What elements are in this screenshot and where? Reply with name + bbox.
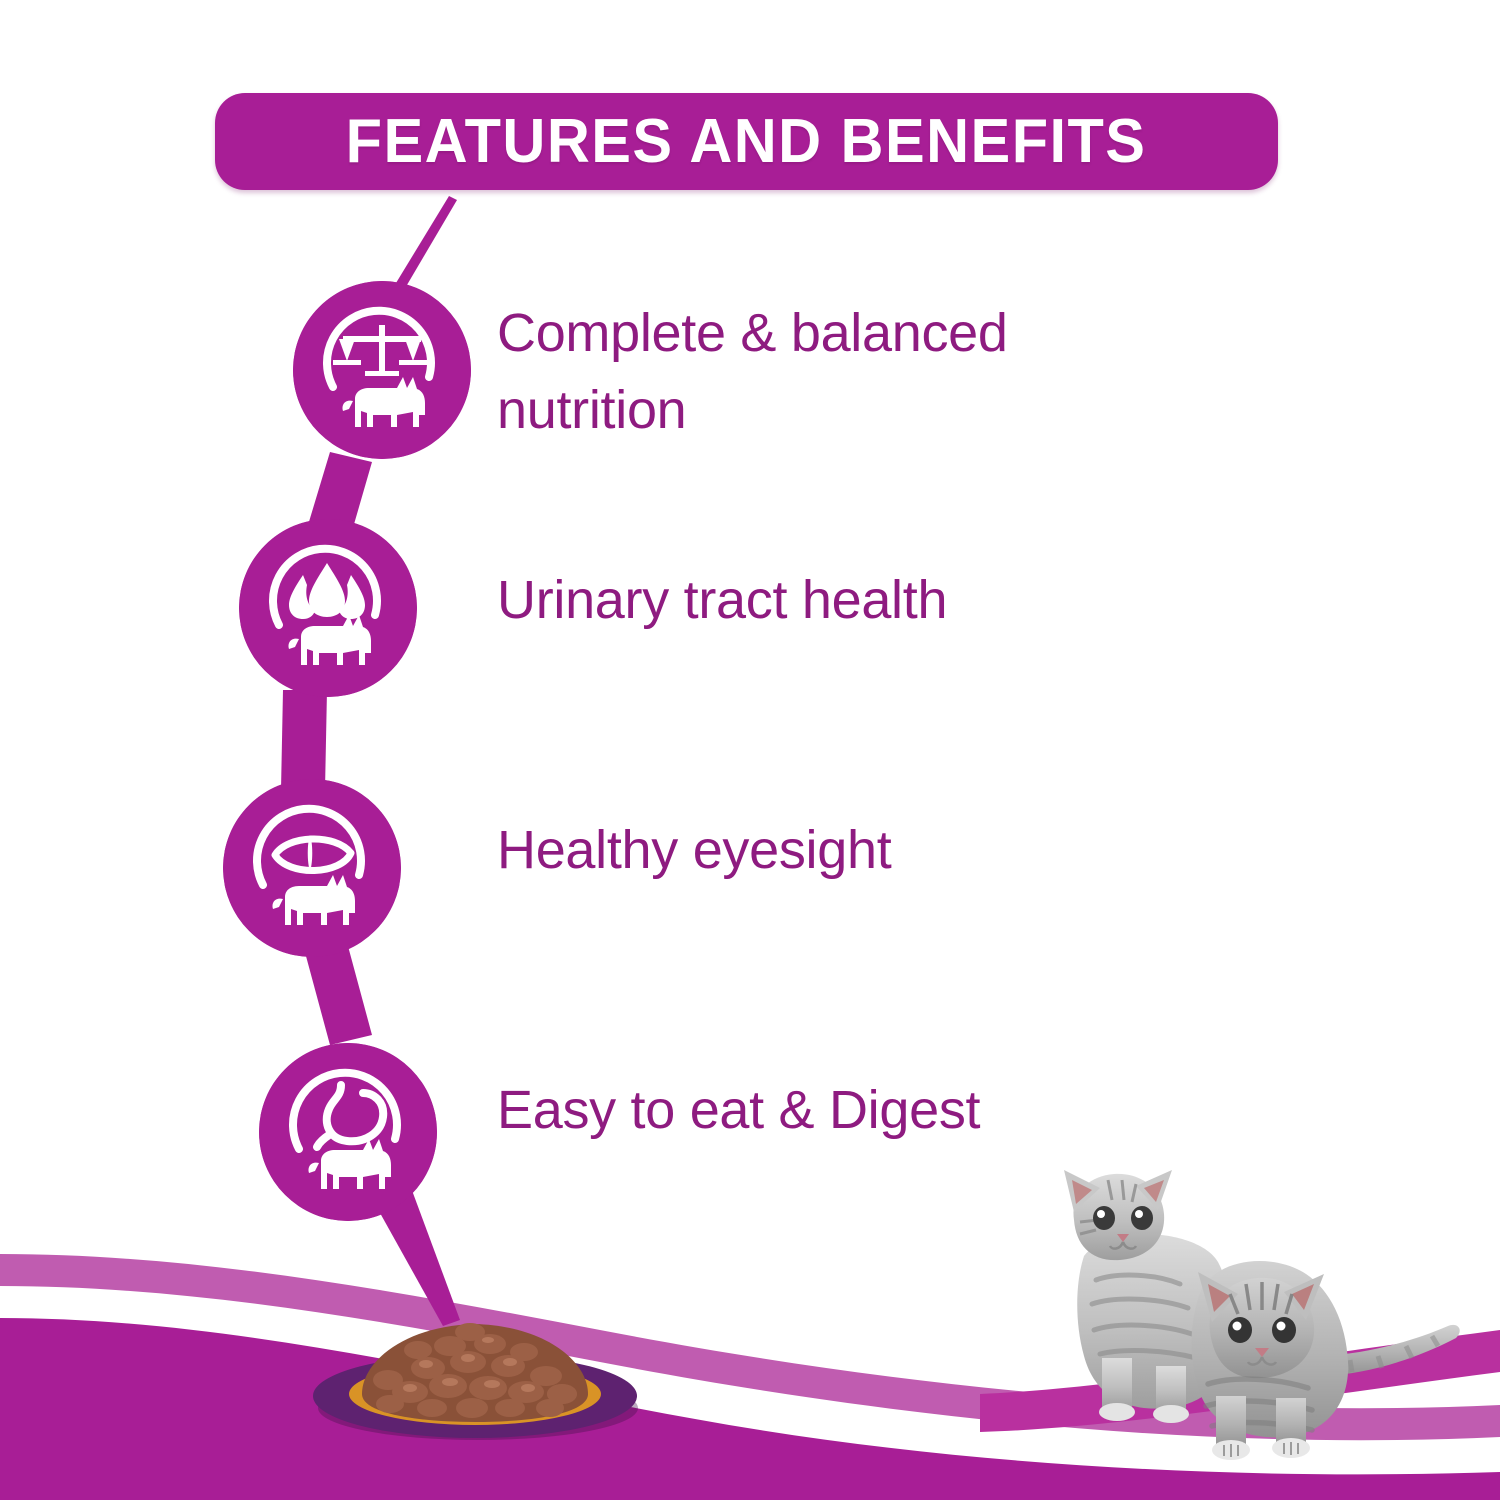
- product-feature-graphic: FEATURES AND BENEFITS: [0, 0, 1500, 1500]
- kitten-left-eye-left: [1093, 1206, 1115, 1230]
- banner-connector-line: [396, 196, 457, 290]
- feature-label-4: Easy to eat & Digest: [497, 1072, 980, 1149]
- kitten-left-paw-1: [1099, 1403, 1135, 1421]
- feature-icon-3: [223, 779, 401, 957]
- kitten-left-eye-right: [1131, 1206, 1153, 1230]
- page-title: FEATURES AND BENEFITS: [346, 106, 1147, 177]
- kitten-left-paw-2: [1153, 1405, 1189, 1423]
- feature-icon-4: [259, 1043, 437, 1221]
- kitten-right-eye-right: [1272, 1317, 1296, 1343]
- feature-label-1: Complete & balanced nutrition: [497, 295, 1008, 448]
- kitten-right: [1192, 1261, 1460, 1460]
- kitten-left-leg-front: [1102, 1358, 1132, 1410]
- cat-food-bowl: [300, 1300, 650, 1445]
- feature-icon-1: [293, 281, 471, 459]
- feature-label-2: Urinary tract health: [497, 562, 947, 639]
- feature-icon-2: [239, 519, 417, 697]
- header-banner: FEATURES AND BENEFITS: [215, 93, 1278, 190]
- two-kittens: [1040, 1160, 1470, 1460]
- kitten-right-eye-left: [1228, 1317, 1252, 1343]
- feature-label-3: Healthy eyesight: [497, 812, 891, 889]
- chain-dash-2: [281, 690, 327, 790]
